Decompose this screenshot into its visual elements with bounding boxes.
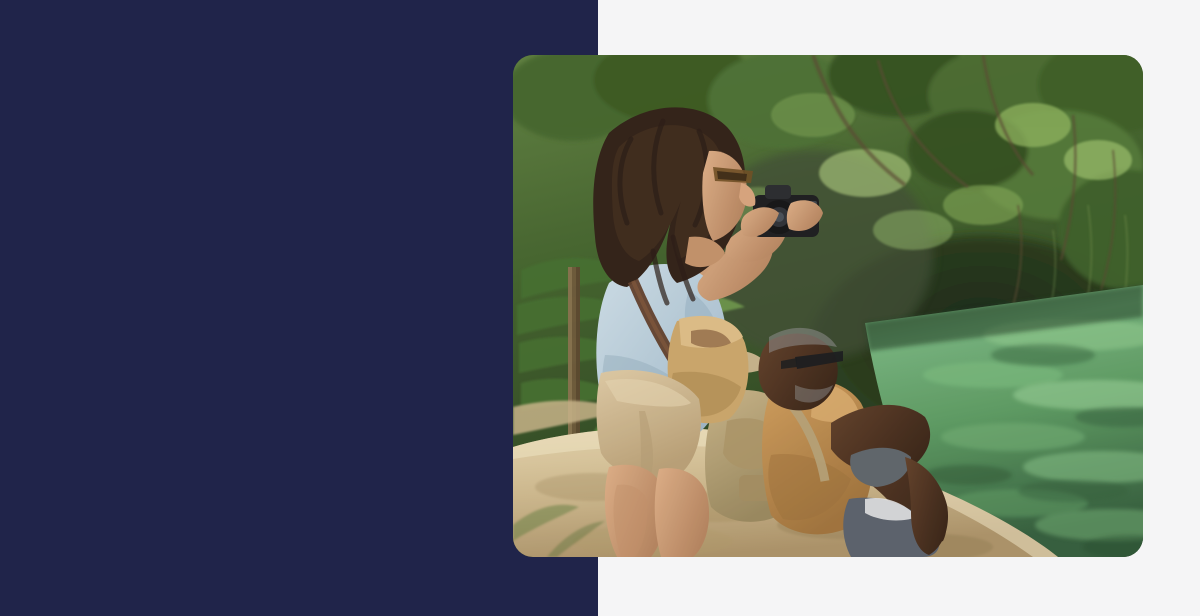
excursion-photo-card [513, 55, 1143, 557]
navy-info-panel [0, 0, 598, 616]
excursion-photo [513, 55, 1143, 557]
excursions-section: Excursions Discover the best of your des… [0, 0, 1200, 616]
